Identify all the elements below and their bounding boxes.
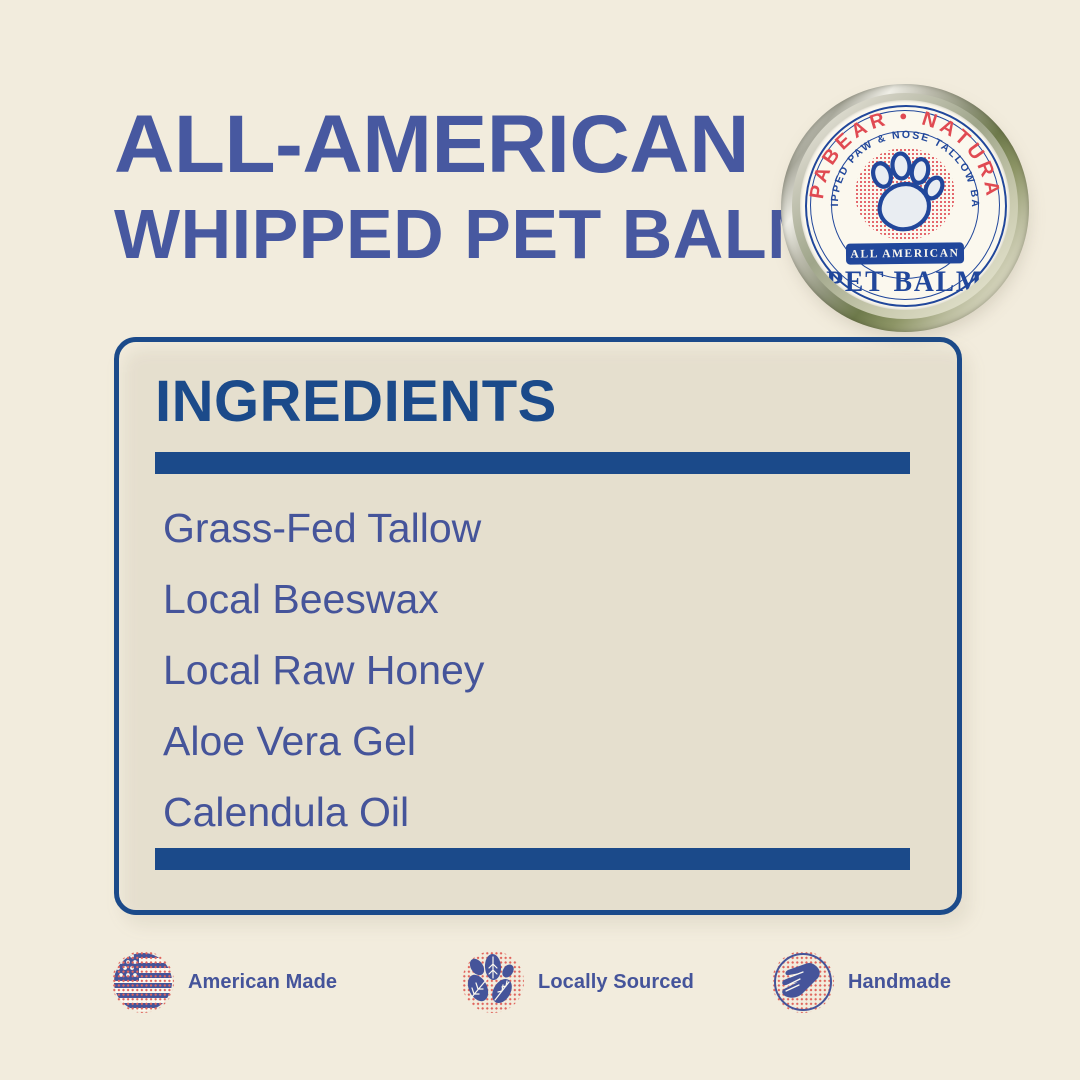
tin-label-face: PAPABEAR • NATURALS WHIPPED PAW & NOSE T… xyxy=(800,100,1010,310)
tin-all-american-banner: ALL AMERICAN xyxy=(846,242,964,264)
badge-label: Locally Sourced xyxy=(538,971,694,994)
poster-title: ALL-AMERICAN WHIPPED PET BALM xyxy=(114,104,754,272)
badge-locally-sourced: Locally Sourced xyxy=(462,951,694,1013)
list-item: Local Raw Honey xyxy=(163,635,484,706)
american-flag-icon xyxy=(112,951,174,1013)
halftone-overlay xyxy=(112,951,174,1013)
ingredients-heading: INGREDIENTS xyxy=(155,368,557,435)
title-line-primary: ALL-AMERICAN xyxy=(114,104,767,186)
list-item: Aloe Vera Gel xyxy=(163,706,484,777)
ingredients-list: Grass-Fed Tallow Local Beeswax Local Raw… xyxy=(163,493,484,848)
heading-divider-bar xyxy=(155,452,910,474)
trust-badges-row: American Made xyxy=(0,945,1080,1025)
paw-print-icon xyxy=(863,150,949,238)
tin-product-name: PET BALM xyxy=(808,265,1001,299)
badge-label: American Made xyxy=(188,971,337,994)
leaves-icon xyxy=(462,951,524,1013)
badge-american-made: American Made xyxy=(112,951,337,1013)
footer-divider-bar xyxy=(155,848,910,870)
list-item: Grass-Fed Tallow xyxy=(163,493,484,564)
title-line-secondary: WHIPPED PET BALM xyxy=(114,196,754,272)
product-tin-image: PAPABEAR • NATURALS WHIPPED PAW & NOSE T… xyxy=(781,84,1031,334)
badge-label: Handmade xyxy=(848,971,951,994)
badge-handmade: Handmade xyxy=(772,951,951,1013)
pet-balm-ingredients-poster: ALL-AMERICAN WHIPPED PET BALM PAPABEAR •… xyxy=(0,0,1080,1080)
hand-icon xyxy=(772,951,834,1013)
list-item: Calendula Oil xyxy=(163,777,484,848)
list-item: Local Beeswax xyxy=(163,564,484,635)
